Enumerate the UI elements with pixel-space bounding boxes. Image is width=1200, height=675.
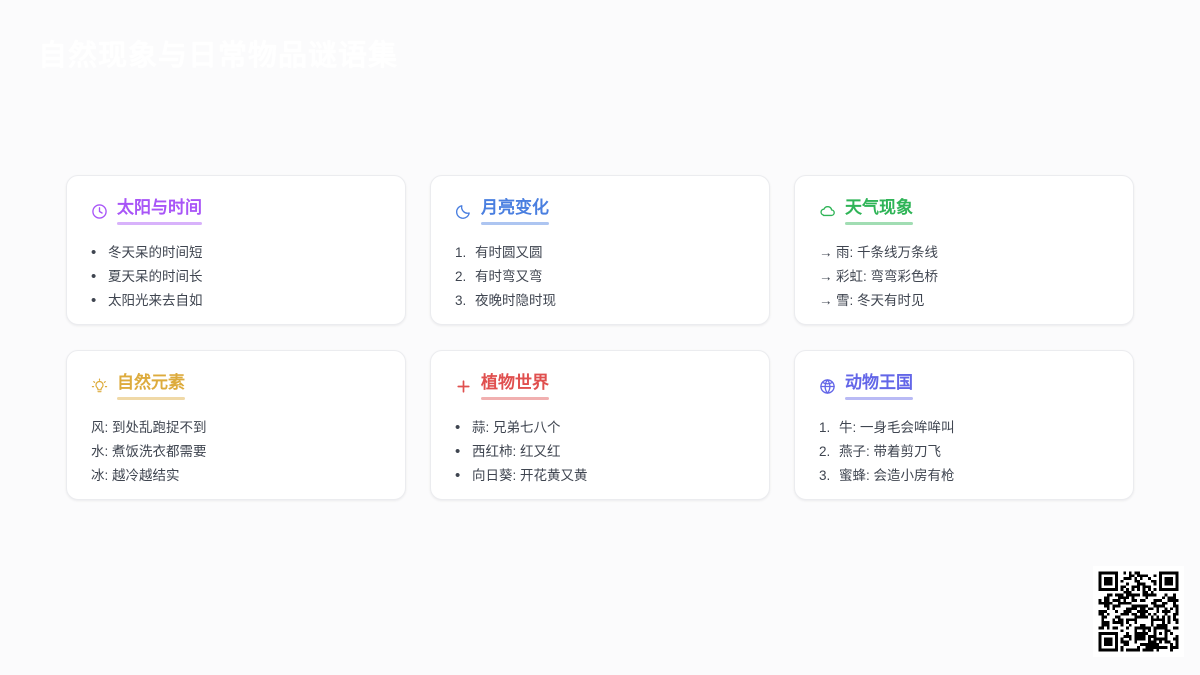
list-item: →雪: 冬天有时见 — [819, 289, 1109, 313]
card-title: 植物世界 — [481, 373, 549, 400]
qr-code[interactable] — [1093, 566, 1184, 657]
card-list: 1.有时圆又圆2.有时弯又弯3.夜晚时隐时现 — [455, 241, 745, 313]
list-item-text: 彩虹: 弯弯彩色桥 — [836, 265, 938, 289]
list-item-text: 雪: 冬天有时见 — [836, 289, 925, 313]
list-item-text: 夜晚时隐时现 — [475, 289, 556, 313]
list-item-text: 夏天呆的时间长 — [108, 265, 203, 289]
cloud-icon — [819, 203, 836, 220]
list-item: 2.燕子: 带着剪刀飞 — [819, 440, 1109, 464]
card-header: 月亮变化 — [455, 198, 745, 225]
card-weather: 天气现象→雨: 千条线万条线→彩虹: 弯弯彩色桥→雪: 冬天有时见 — [794, 175, 1134, 325]
list-marker: 2. — [455, 265, 475, 289]
card-list: 风: 到处乱跑捉不到水: 煮饭洗衣都需要冰: 越冷越结实 — [91, 416, 381, 488]
list-marker: • — [91, 289, 108, 313]
card-plant-world: 植物世界•蒜: 兄弟七八个•西红柿: 红又红•向日葵: 开花黄又黄 — [430, 350, 770, 500]
card-header: 太阳与时间 — [91, 198, 381, 225]
list-marker: 1. — [455, 241, 475, 265]
card-list: 1.牛: 一身毛会哞哞叫2.燕子: 带着剪刀飞3.蜜蜂: 会造小房有枪 — [819, 416, 1109, 488]
clock-icon — [91, 203, 108, 220]
card-title: 天气现象 — [845, 198, 913, 225]
list-item-text: 有时弯又弯 — [475, 265, 543, 289]
list-item: 1.牛: 一身毛会哞哞叫 — [819, 416, 1109, 440]
list-item: 2.有时弯又弯 — [455, 265, 745, 289]
list-marker: → — [819, 241, 836, 265]
moon-icon — [455, 203, 472, 220]
list-item: •冬天呆的时间短 — [91, 241, 381, 265]
card-header: 植物世界 — [455, 373, 745, 400]
list-item: •西红柿: 红又红 — [455, 440, 745, 464]
list-item-text: 有时圆又圆 — [475, 241, 543, 265]
list-item: 风: 到处乱跑捉不到 — [91, 416, 381, 440]
plus-icon — [455, 378, 472, 395]
list-item-text: 牛: 一身毛会哞哞叫 — [839, 416, 955, 440]
list-marker: • — [91, 265, 108, 289]
list-marker: 3. — [455, 289, 475, 313]
list-item: →彩虹: 弯弯彩色桥 — [819, 265, 1109, 289]
list-item: 1.有时圆又圆 — [455, 241, 745, 265]
list-marker: • — [455, 416, 472, 440]
card-title: 自然元素 — [117, 373, 185, 400]
list-marker: 3. — [819, 464, 839, 488]
list-marker: 2. — [819, 440, 839, 464]
card-list: •冬天呆的时间短•夏天呆的时间长•太阳光来去自如 — [91, 241, 381, 313]
list-item: 3.夜晚时隐时现 — [455, 289, 745, 313]
card-nature-elements: 自然元素风: 到处乱跑捉不到水: 煮饭洗衣都需要冰: 越冷越结实 — [66, 350, 406, 500]
list-item-text: 水: 煮饭洗衣都需要 — [91, 440, 207, 464]
card-header: 自然元素 — [91, 373, 381, 400]
list-item: •夏天呆的时间长 — [91, 265, 381, 289]
card-animal-kingdom: 动物王国1.牛: 一身毛会哞哞叫2.燕子: 带着剪刀飞3.蜜蜂: 会造小房有枪 — [794, 350, 1134, 500]
list-item-text: 雨: 千条线万条线 — [836, 241, 938, 265]
card-grid: 太阳与时间•冬天呆的时间短•夏天呆的时间长•太阳光来去自如月亮变化1.有时圆又圆… — [66, 175, 1134, 500]
list-marker: • — [455, 440, 472, 464]
card-title: 太阳与时间 — [117, 198, 202, 225]
card-header: 动物王国 — [819, 373, 1109, 400]
list-item-text: 蒜: 兄弟七八个 — [472, 416, 561, 440]
list-item-text: 西红柿: 红又红 — [472, 440, 561, 464]
list-item-text: 燕子: 带着剪刀飞 — [839, 440, 941, 464]
list-item: →雨: 千条线万条线 — [819, 241, 1109, 265]
page-title: 自然现象与日常物品谜语集 — [38, 38, 398, 74]
card-list: •蒜: 兄弟七八个•西红柿: 红又红•向日葵: 开花黄又黄 — [455, 416, 745, 488]
list-marker: • — [455, 464, 472, 488]
list-item-text: 太阳光来去自如 — [108, 289, 203, 313]
card-title: 月亮变化 — [481, 198, 549, 225]
list-item-text: 向日葵: 开花黄又黄 — [472, 464, 588, 488]
list-item: 3.蜜蜂: 会造小房有枪 — [819, 464, 1109, 488]
card-title: 动物王国 — [845, 373, 913, 400]
lightbulb-icon — [91, 378, 108, 395]
list-marker: → — [819, 289, 836, 313]
list-marker: 1. — [819, 416, 839, 440]
list-item-text: 冬天呆的时间短 — [108, 241, 203, 265]
list-item-text: 冰: 越冷越结实 — [91, 464, 180, 488]
list-marker: → — [819, 265, 836, 289]
card-sun-time: 太阳与时间•冬天呆的时间短•夏天呆的时间长•太阳光来去自如 — [66, 175, 406, 325]
list-item-text: 蜜蜂: 会造小房有枪 — [839, 464, 955, 488]
card-header: 天气现象 — [819, 198, 1109, 225]
card-list: →雨: 千条线万条线→彩虹: 弯弯彩色桥→雪: 冬天有时见 — [819, 241, 1109, 313]
list-item: •太阳光来去自如 — [91, 289, 381, 313]
list-item: 水: 煮饭洗衣都需要 — [91, 440, 381, 464]
list-item: •向日葵: 开花黄又黄 — [455, 464, 745, 488]
list-item: 冰: 越冷越结实 — [91, 464, 381, 488]
list-item-text: 风: 到处乱跑捉不到 — [91, 416, 207, 440]
list-marker: • — [91, 241, 108, 265]
globe-icon — [819, 378, 836, 395]
card-moon-change: 月亮变化1.有时圆又圆2.有时弯又弯3.夜晚时隐时现 — [430, 175, 770, 325]
list-item: •蒜: 兄弟七八个 — [455, 416, 745, 440]
